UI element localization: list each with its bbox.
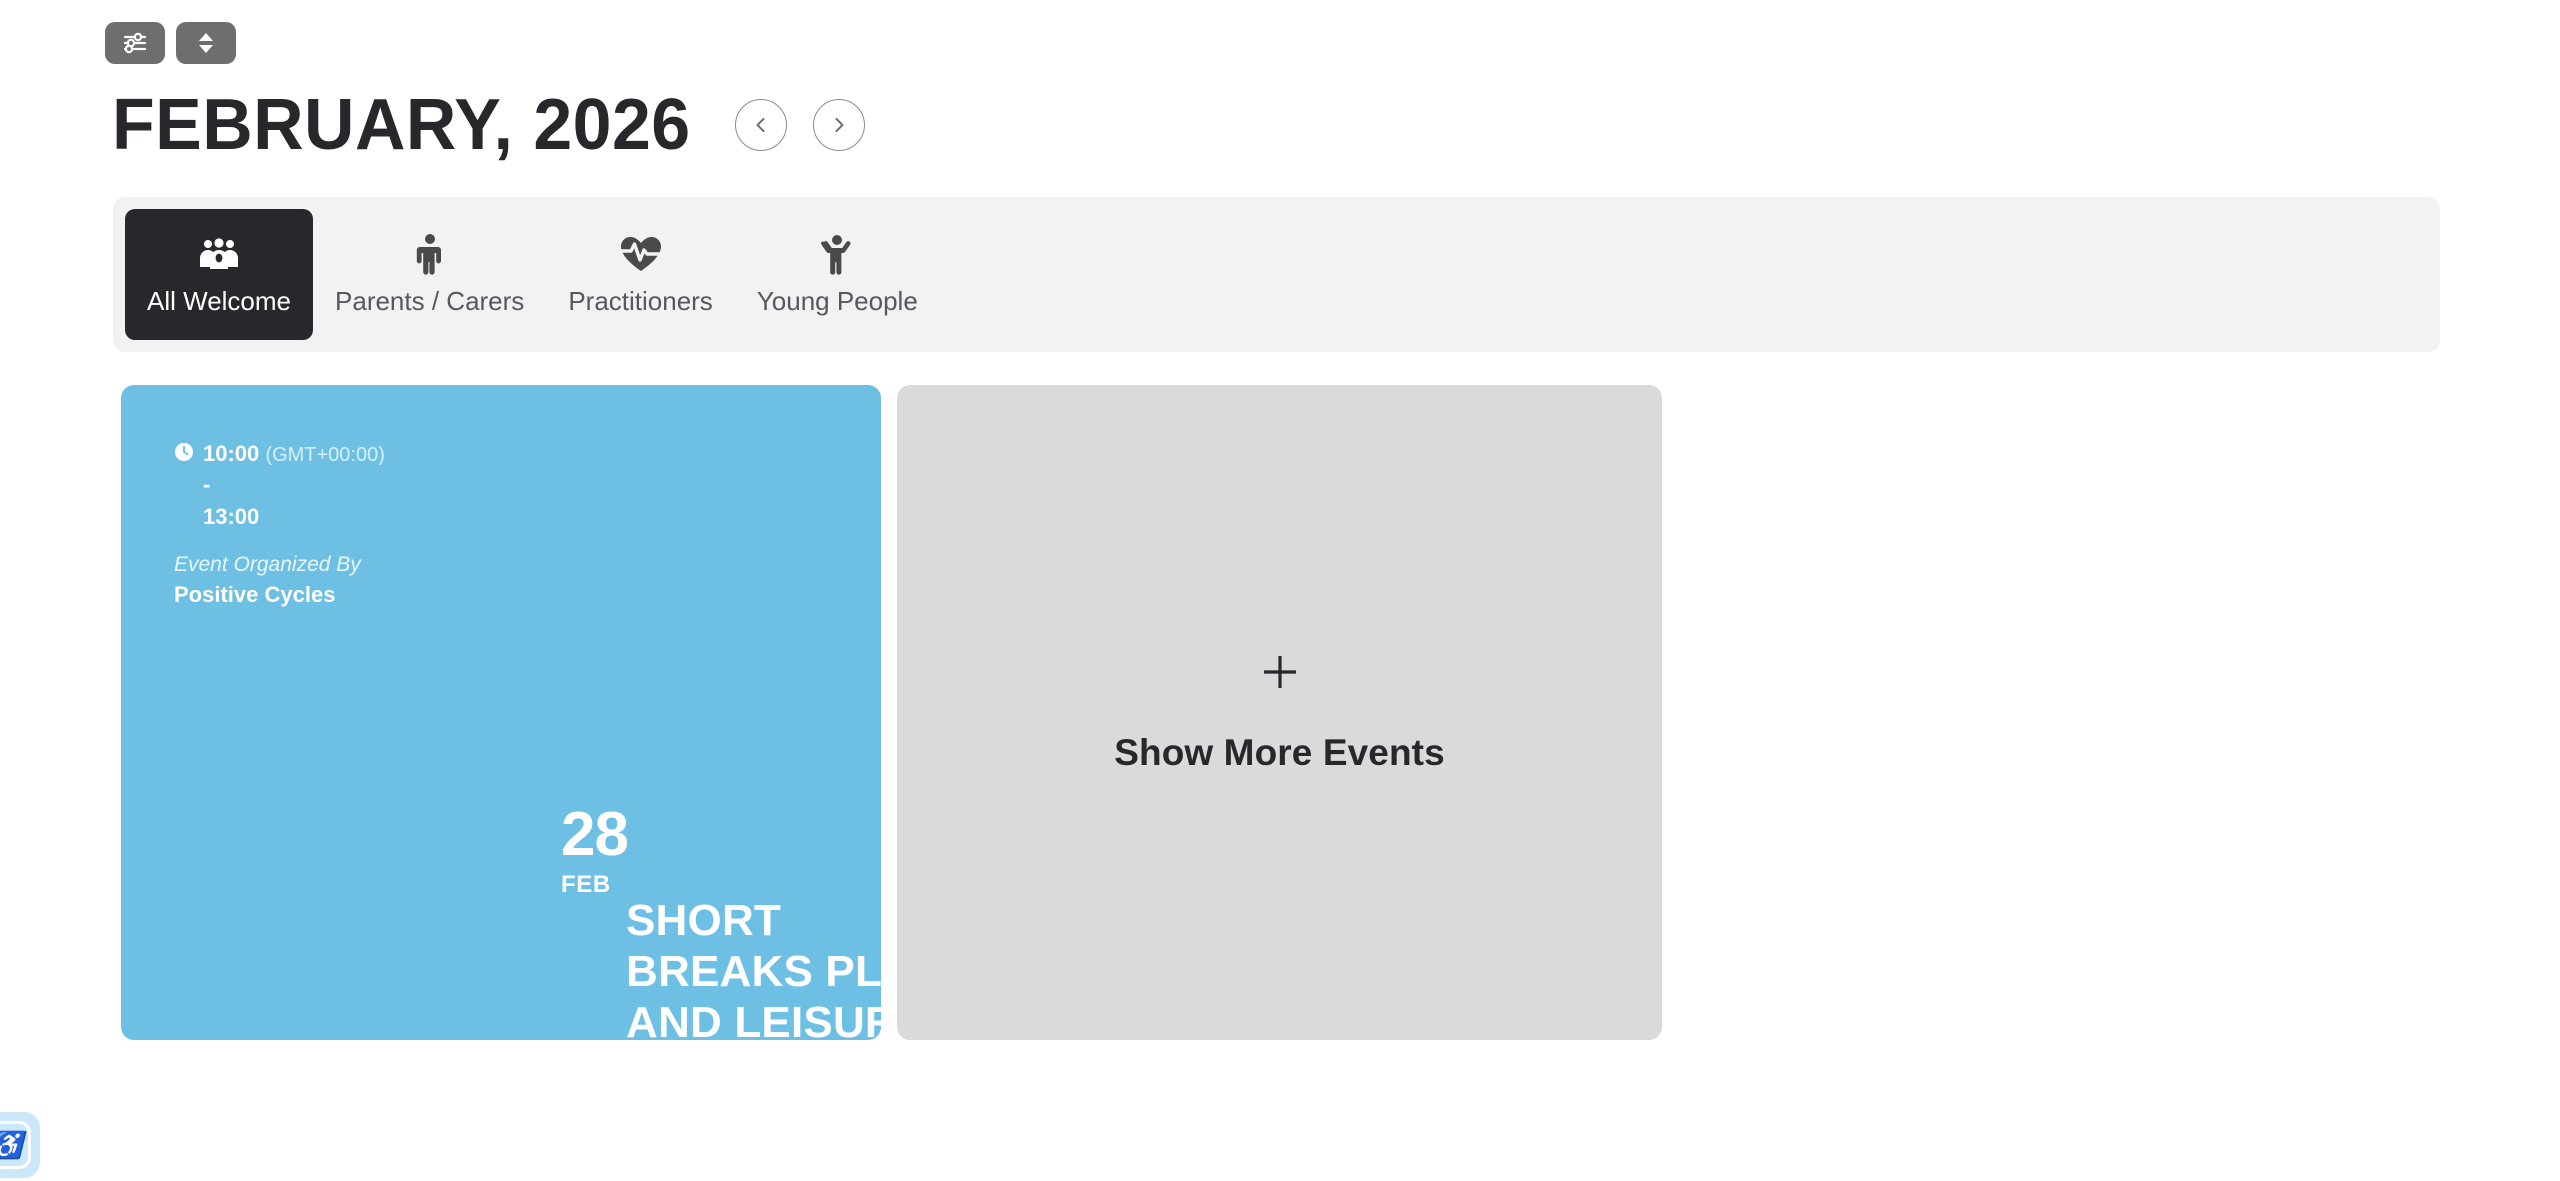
chevron-left-icon bbox=[751, 115, 771, 135]
tab-label: Young People bbox=[757, 286, 918, 317]
event-time: 10:00 (GMT+00:00) - 13:00 bbox=[174, 438, 404, 532]
tab-label: All Welcome bbox=[147, 286, 291, 317]
event-meta: 10:00 (GMT+00:00) - 13:00 Event Organize… bbox=[174, 438, 404, 611]
people-group-icon bbox=[198, 232, 240, 276]
tab-practitioners[interactable]: Practitioners bbox=[546, 209, 735, 340]
filter-button[interactable] bbox=[105, 22, 165, 64]
tab-label: Parents / Carers bbox=[335, 286, 524, 317]
organized-by-label: Event Organized By bbox=[174, 550, 404, 579]
tab-parents-carers[interactable]: Parents / Carers bbox=[313, 209, 546, 340]
show-more-events-card[interactable]: Show More Events bbox=[897, 385, 1662, 1040]
calendar-page: FEBRUARY, 2026 bbox=[0, 0, 2560, 1181]
event-end-time: 13:00 bbox=[203, 501, 385, 532]
person-icon bbox=[416, 232, 444, 276]
tab-young-people[interactable]: Young People bbox=[735, 209, 940, 340]
organizer-name: Positive Cycles bbox=[174, 579, 404, 611]
toolbar bbox=[105, 22, 236, 64]
event-date: 28 FEB bbox=[561, 810, 628, 899]
audience-tabs: All Welcome Parents / Carers Practitione… bbox=[113, 197, 2440, 352]
sort-button[interactable] bbox=[176, 22, 236, 64]
plus-icon bbox=[1260, 652, 1300, 692]
child-icon bbox=[821, 232, 853, 276]
accessibility-icon: ♿ bbox=[0, 1121, 31, 1169]
chevron-right-icon bbox=[829, 115, 849, 135]
event-month: FEB bbox=[561, 871, 628, 899]
event-card[interactable]: 10:00 (GMT+00:00) - 13:00 Event Organize… bbox=[121, 385, 881, 1040]
event-timezone: (GMT+00:00) bbox=[265, 444, 384, 466]
event-start-time: 10:00 bbox=[203, 441, 259, 466]
event-day: 28 bbox=[561, 810, 628, 861]
event-time-dash: - bbox=[203, 469, 385, 500]
events-grid: 10:00 (GMT+00:00) - 13:00 Event Organize… bbox=[121, 385, 1662, 1040]
show-more-events-label: Show More Events bbox=[1114, 732, 1445, 774]
prev-month-button[interactable] bbox=[735, 99, 787, 151]
page-title: FEBRUARY, 2026 bbox=[112, 89, 691, 161]
sort-updown-icon bbox=[196, 31, 216, 55]
tab-label: Practitioners bbox=[568, 286, 713, 317]
sliders-icon bbox=[122, 32, 148, 54]
tab-all-welcome[interactable]: All Welcome bbox=[125, 209, 313, 340]
event-time-text: 10:00 (GMT+00:00) - 13:00 bbox=[203, 438, 385, 532]
event-title: SHORT BREAKS PLAY AND LEISURE – ABILITY … bbox=[626, 895, 881, 1040]
heartbeat-icon bbox=[619, 232, 663, 276]
next-month-button[interactable] bbox=[813, 99, 865, 151]
accessibility-widget[interactable]: ♿ bbox=[0, 1112, 40, 1178]
clock-icon bbox=[174, 442, 194, 462]
month-header: FEBRUARY, 2026 bbox=[112, 85, 865, 165]
